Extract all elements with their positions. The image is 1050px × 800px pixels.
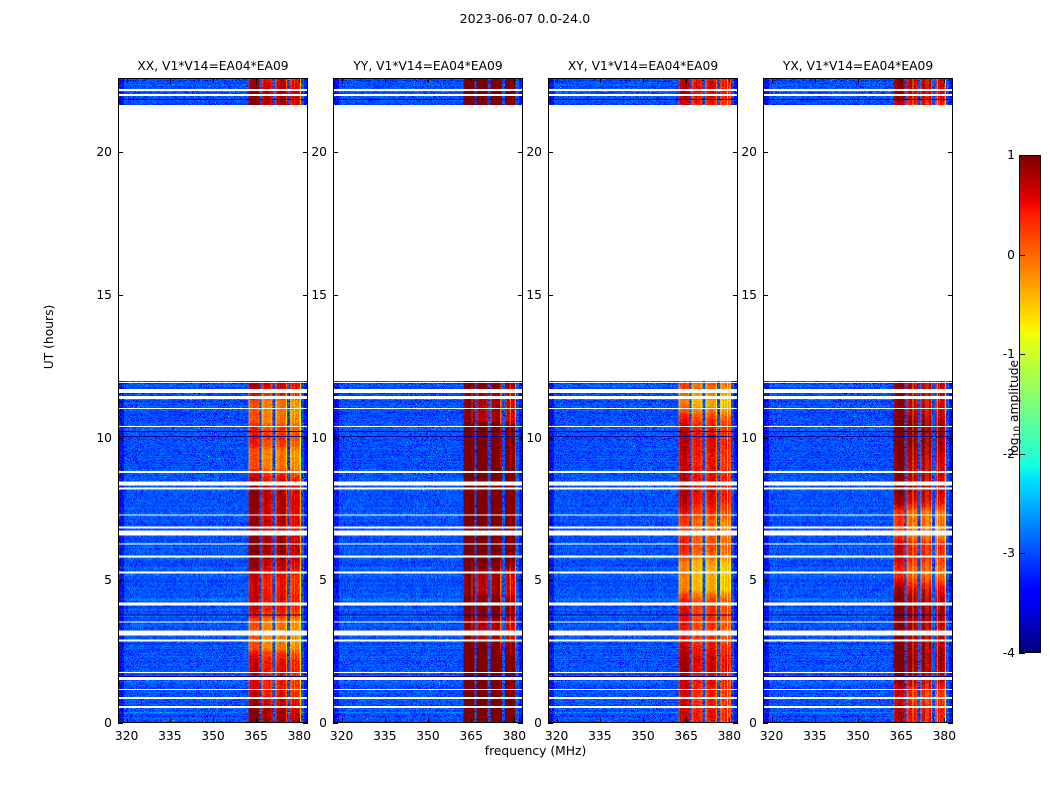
x-tick-mark-top	[772, 78, 773, 83]
colorbar-tick-mark	[1019, 155, 1025, 156]
y-tick-label: 20	[510, 145, 542, 159]
x-tick-label: 320	[752, 729, 792, 744]
x-tick-label: 350	[838, 729, 878, 744]
y-tick-mark	[333, 580, 338, 581]
x-tick-mark-top	[514, 78, 515, 83]
heatmap-image-yy	[334, 79, 522, 722]
figure-canvas: 2023-06-07 0.0-24.0 XX, V1*V14=EA04*EA09…	[0, 0, 1050, 800]
y-tick-mark	[548, 295, 553, 296]
colorbar-tick-label: 1	[975, 148, 1015, 162]
y-tick-label: 5	[295, 573, 327, 587]
x-tick-mark	[643, 718, 644, 723]
x-tick-mark	[342, 718, 343, 723]
x-tick-label: 335	[580, 729, 620, 744]
x-tick-mark	[471, 718, 472, 723]
y-tick-label: 5	[80, 573, 112, 587]
panel-title-xx: XX, V1*V14=EA04*EA09	[118, 58, 308, 74]
x-tick-mark-top	[643, 78, 644, 83]
colorbar-label-subscript: 10	[1013, 426, 1023, 437]
x-tick-mark	[600, 718, 601, 723]
y-tick-label: 15	[510, 288, 542, 302]
heatmap-image-xx	[119, 79, 307, 722]
x-tick-mark	[944, 718, 945, 723]
x-tick-label: 365	[666, 729, 706, 744]
y-tick-mark-right	[948, 152, 953, 153]
x-tick-label: 320	[107, 729, 147, 744]
x-tick-mark-top	[600, 78, 601, 83]
y-tick-label: 20	[725, 145, 757, 159]
y-tick-label: 10	[725, 431, 757, 445]
heatmap-image-xy	[549, 79, 737, 722]
y-tick-mark	[763, 438, 768, 439]
x-tick-mark	[127, 718, 128, 723]
x-tick-label: 350	[408, 729, 448, 744]
panel-title-yy: YY, V1*V14=EA04*EA09	[333, 58, 523, 74]
y-tick-label: 0	[510, 716, 542, 730]
y-tick-label: 0	[80, 716, 112, 730]
x-tick-mark-top	[557, 78, 558, 83]
y-tick-mark	[763, 580, 768, 581]
colorbar-tick-label: 0	[975, 248, 1015, 262]
x-tick-mark-top	[686, 78, 687, 83]
x-tick-label: 350	[623, 729, 663, 744]
x-tick-label: 380	[924, 729, 964, 744]
x-tick-label: 320	[537, 729, 577, 744]
y-tick-mark	[763, 152, 768, 153]
x-tick-label: 335	[365, 729, 405, 744]
y-tick-label: 15	[725, 288, 757, 302]
x-tick-mark	[385, 718, 386, 723]
x-tick-mark	[815, 718, 816, 723]
y-tick-label: 10	[80, 431, 112, 445]
x-tick-mark-top	[428, 78, 429, 83]
y-tick-mark	[333, 152, 338, 153]
y-tick-mark	[763, 295, 768, 296]
colorbar-axis-label: log10 amplitude	[1007, 298, 1023, 518]
x-tick-mark-top	[729, 78, 730, 83]
x-tick-mark	[557, 718, 558, 723]
panel-title-yx: YX, V1*V14=EA04*EA09	[763, 58, 953, 74]
y-tick-mark	[333, 723, 338, 724]
x-tick-mark-top	[944, 78, 945, 83]
y-tick-mark-right	[948, 723, 953, 724]
y-tick-label: 0	[725, 716, 757, 730]
y-tick-mark	[118, 723, 123, 724]
x-tick-mark-top	[342, 78, 343, 83]
y-tick-mark	[548, 152, 553, 153]
x-tick-mark-top	[858, 78, 859, 83]
y-tick-mark-right	[948, 438, 953, 439]
x-tick-label: 335	[795, 729, 835, 744]
heatmap-image-yx	[764, 79, 952, 722]
y-tick-label: 15	[295, 288, 327, 302]
x-tick-label: 380	[279, 729, 319, 744]
heatmap-panel-xx[interactable]	[118, 78, 308, 723]
x-tick-mark-top	[127, 78, 128, 83]
heatmap-panel-xy[interactable]	[548, 78, 738, 723]
x-tick-label: 380	[709, 729, 749, 744]
y-tick-mark	[333, 295, 338, 296]
colorbar-tick-label: -3	[975, 546, 1015, 560]
y-tick-label: 0	[295, 716, 327, 730]
y-tick-label: 5	[510, 573, 542, 587]
x-tick-mark-top	[815, 78, 816, 83]
y-tick-label: 10	[510, 431, 542, 445]
x-tick-label: 365	[236, 729, 276, 744]
x-axis-label: frequency (MHz)	[118, 744, 953, 758]
y-axis-label: UT (hours)	[42, 267, 56, 407]
y-tick-label: 20	[295, 145, 327, 159]
y-tick-mark	[118, 152, 123, 153]
y-tick-label: 5	[725, 573, 757, 587]
y-tick-label: 10	[295, 431, 327, 445]
y-tick-mark	[118, 580, 123, 581]
y-tick-mark	[763, 723, 768, 724]
x-tick-mark	[213, 718, 214, 723]
x-tick-label: 335	[150, 729, 190, 744]
y-tick-mark	[118, 438, 123, 439]
x-tick-label: 320	[322, 729, 362, 744]
y-tick-mark	[333, 438, 338, 439]
colorbar-tick-mark	[1019, 653, 1025, 654]
y-tick-mark	[118, 295, 123, 296]
colorbar-tick-label: -4	[975, 646, 1015, 660]
x-tick-mark-top	[256, 78, 257, 83]
x-tick-mark-top	[170, 78, 171, 83]
x-tick-mark	[256, 718, 257, 723]
panel-title-xy: XY, V1*V14=EA04*EA09	[548, 58, 738, 74]
x-tick-mark-top	[213, 78, 214, 83]
figure-suptitle: 2023-06-07 0.0-24.0	[0, 11, 1050, 26]
x-tick-mark	[428, 718, 429, 723]
colorbar-tick-mark	[1019, 553, 1025, 554]
x-tick-label: 380	[494, 729, 534, 744]
colorbar-tick-mark	[1019, 255, 1025, 256]
heatmap-panel-yx[interactable]	[763, 78, 953, 723]
x-tick-mark	[170, 718, 171, 723]
x-tick-mark-top	[471, 78, 472, 83]
y-tick-mark-right	[948, 295, 953, 296]
x-tick-label: 365	[451, 729, 491, 744]
x-tick-mark-top	[901, 78, 902, 83]
y-tick-mark	[548, 723, 553, 724]
x-tick-mark	[858, 718, 859, 723]
x-tick-label: 350	[193, 729, 233, 744]
x-tick-mark-top	[299, 78, 300, 83]
x-tick-mark-top	[385, 78, 386, 83]
heatmap-panel-yy[interactable]	[333, 78, 523, 723]
x-tick-mark	[901, 718, 902, 723]
y-tick-label: 20	[80, 145, 112, 159]
x-tick-label: 365	[881, 729, 921, 744]
x-tick-mark	[772, 718, 773, 723]
y-tick-mark-right	[948, 580, 953, 581]
y-tick-mark	[548, 438, 553, 439]
y-tick-mark	[548, 580, 553, 581]
y-tick-label: 15	[80, 288, 112, 302]
x-tick-mark	[686, 718, 687, 723]
